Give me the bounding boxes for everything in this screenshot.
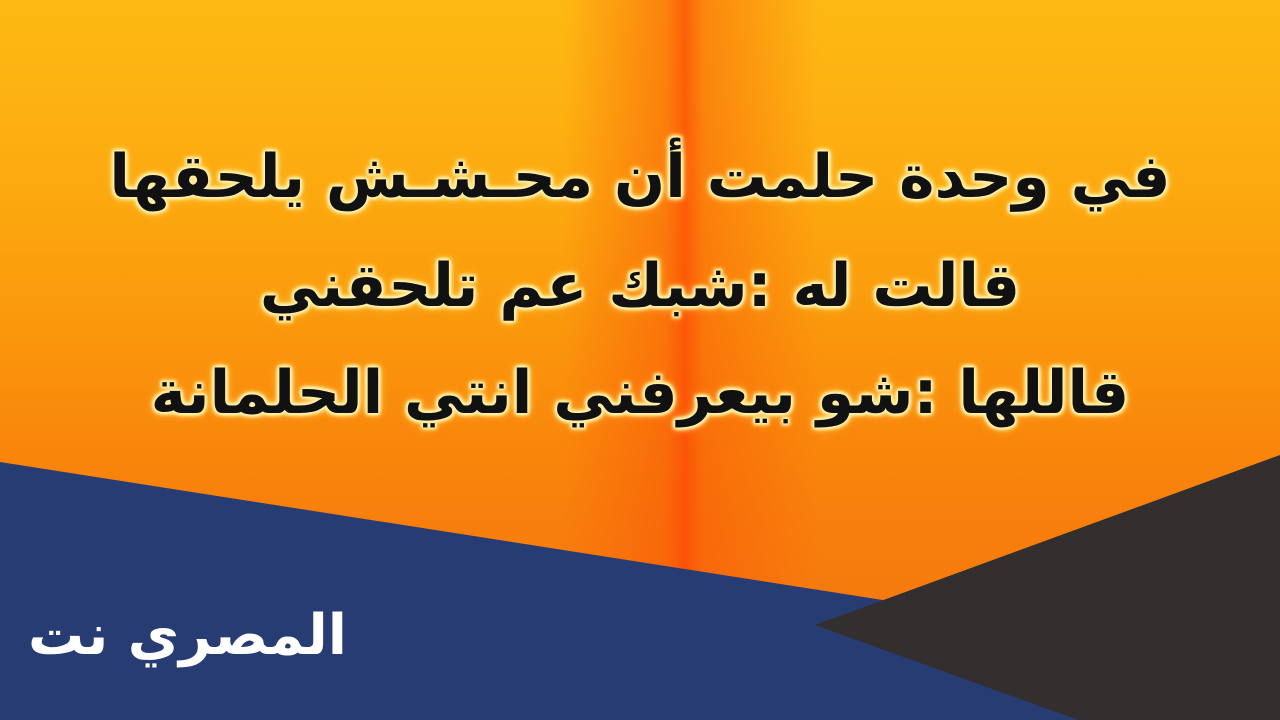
site-watermark: المصري نت	[28, 608, 347, 664]
caption-line-2: قالت له :شبك عم تلحقني	[28, 247, 1252, 326]
joke-caption-block: في وحدة حلمت أن محـشـش يلحقها قالت له :ش…	[0, 0, 1280, 456]
caption-line-3: قاللها :شو بيعرفني انتي الحلمانة	[28, 354, 1252, 433]
caption-line-1: في وحدة حلمت أن محـشـش يلحقها	[28, 138, 1252, 217]
image-canvas: في وحدة حلمت أن محـشـش يلحقها قالت له :ش…	[0, 0, 1280, 720]
